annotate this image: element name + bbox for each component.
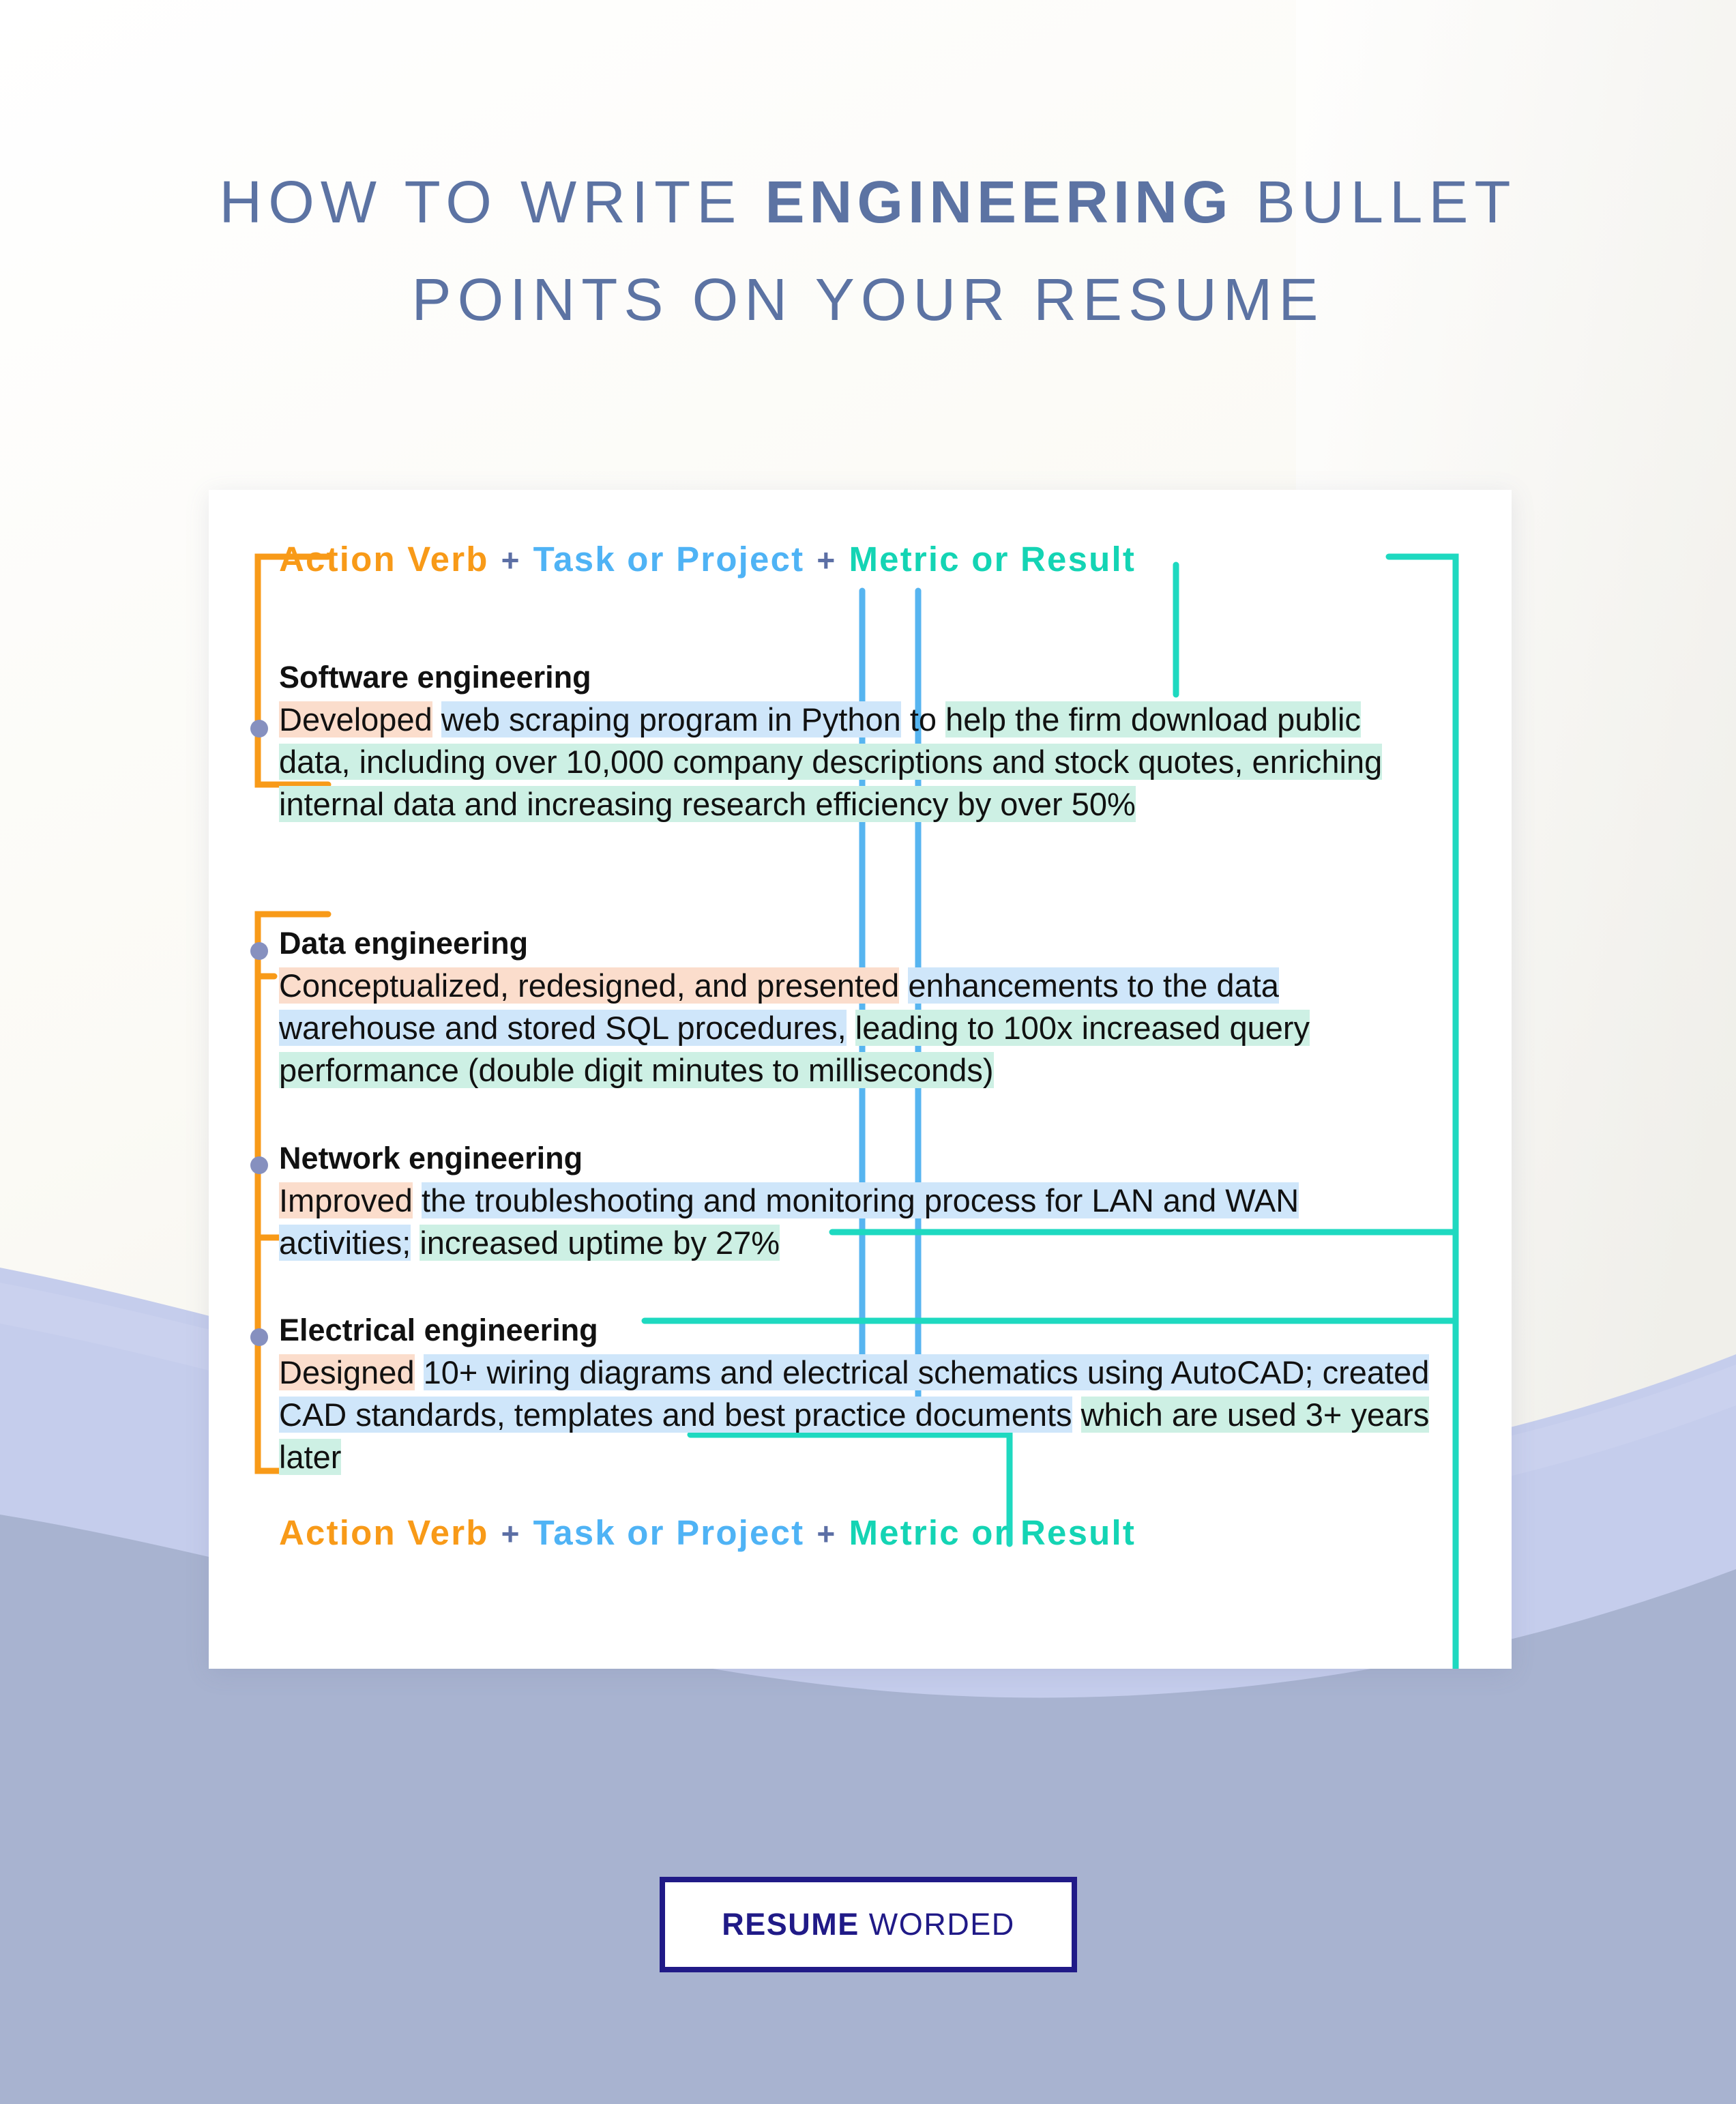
title-segment-strong: ENGINEERING bbox=[765, 169, 1233, 235]
highlight-action: Improved bbox=[279, 1182, 413, 1218]
highlight-metric: increased uptime by 27% bbox=[420, 1225, 780, 1261]
section-heading: Network engineering bbox=[279, 1139, 1432, 1177]
legend-plus-1: + bbox=[489, 542, 533, 578]
legend-metric-result: Metric or Result bbox=[849, 1513, 1136, 1552]
bullet-dot-1 bbox=[250, 720, 268, 737]
page-title: HOW TO WRITE ENGINEERING BULLET POINTS O… bbox=[0, 154, 1736, 349]
section-network-engineering: Network engineering Improved the trouble… bbox=[279, 1139, 1432, 1264]
section-body: Designed 10+ wiring diagrams and electri… bbox=[279, 1351, 1432, 1478]
section-heading: Data engineering bbox=[279, 924, 1432, 962]
highlight-task: web scraping program in Python bbox=[441, 701, 901, 737]
highlight-plain bbox=[847, 1010, 855, 1046]
highlight-plain bbox=[411, 1225, 420, 1261]
legend-bottom: Action Verb+Task or Project+Metric or Re… bbox=[279, 1513, 1136, 1554]
highlight-plain bbox=[413, 1182, 422, 1218]
highlight-action: Conceptualized, redesigned, and presente… bbox=[279, 967, 899, 1004]
highlight-action: Designed bbox=[279, 1354, 415, 1390]
section-software-engineering: Software engineering Developed web scrap… bbox=[279, 658, 1432, 825]
highlight-plain: to bbox=[901, 701, 945, 737]
bullet-dot-3 bbox=[250, 1156, 268, 1174]
legend-metric-result: Metric or Result bbox=[849, 540, 1136, 579]
section-heading: Software engineering bbox=[279, 658, 1432, 696]
logo-light: WORDED bbox=[859, 1907, 1015, 1942]
legend-action-verb: Action Verb bbox=[279, 1513, 489, 1552]
section-body: Improved the troubleshooting and monitor… bbox=[279, 1180, 1432, 1264]
highlight-plain bbox=[899, 967, 908, 1004]
highlight-plain bbox=[1072, 1397, 1081, 1433]
section-data-engineering: Data engineering Conceptualized, redesig… bbox=[279, 924, 1432, 1092]
logo-text: RESUME WORDED bbox=[722, 1907, 1015, 1942]
section-heading: Electrical engineering bbox=[279, 1311, 1432, 1349]
bullet-dot-4 bbox=[250, 1328, 268, 1346]
page-title-line-2: POINTS ON YOUR RESUME bbox=[0, 251, 1736, 349]
highlight-action: Developed bbox=[279, 701, 432, 737]
highlight-plain bbox=[415, 1354, 424, 1390]
legend-task-project: Task or Project bbox=[533, 1513, 805, 1552]
title-segment-post: BULLET bbox=[1233, 169, 1517, 235]
bullet-dot-2 bbox=[250, 942, 268, 960]
legend-action-verb: Action Verb bbox=[279, 540, 489, 579]
logo-bold: RESUME bbox=[722, 1907, 859, 1942]
legend-plus-2: + bbox=[804, 1516, 849, 1551]
legend-plus-1: + bbox=[489, 1516, 533, 1551]
page-title-line-1: HOW TO WRITE ENGINEERING BULLET bbox=[0, 154, 1736, 251]
resume-worded-logo: RESUME WORDED bbox=[660, 1877, 1077, 1972]
title-segment-pre: HOW TO WRITE bbox=[219, 169, 765, 235]
section-electrical-engineering: Electrical engineering Designed 10+ wiri… bbox=[279, 1311, 1432, 1478]
section-body: Developed web scraping program in Python… bbox=[279, 699, 1432, 825]
legend-task-project: Task or Project bbox=[533, 540, 805, 579]
legend-top: Action Verb+Task or Project+Metric or Re… bbox=[279, 539, 1136, 581]
highlight-plain bbox=[432, 701, 441, 737]
section-body: Conceptualized, redesigned, and presente… bbox=[279, 965, 1432, 1092]
legend-plus-2: + bbox=[804, 542, 849, 578]
